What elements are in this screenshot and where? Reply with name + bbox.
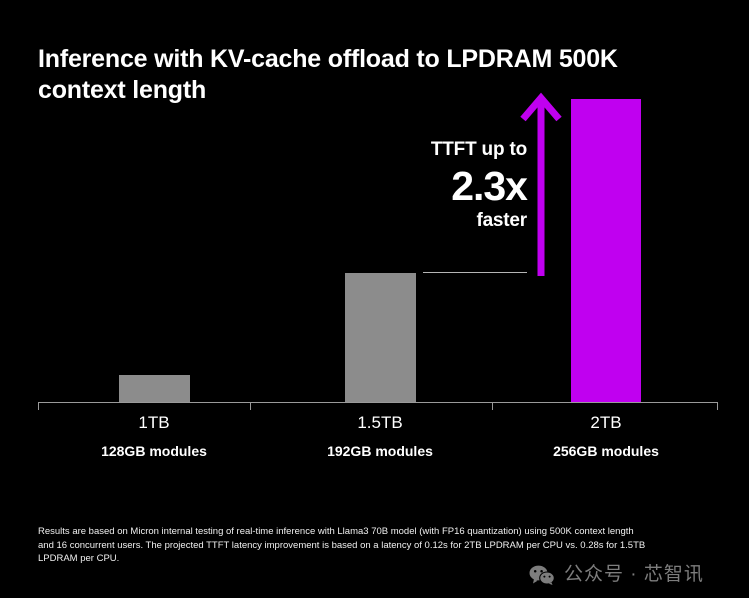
callout-block: TTFT up to 2.3x faster <box>431 138 527 232</box>
bar-2tb <box>571 99 641 402</box>
category-sublabel: 192GB modules <box>260 441 500 461</box>
x-axis-tick <box>717 403 718 410</box>
callout-bottom-label: faster <box>431 210 527 232</box>
callout-value: 2.3x <box>431 163 527 209</box>
wechat-icon <box>529 565 555 585</box>
callout-top-label: TTFT up to <box>431 138 527 161</box>
bar-1-5tb <box>345 273 416 402</box>
x-axis-tick <box>492 403 493 410</box>
category-sublabel: 256GB modules <box>486 441 726 461</box>
category-label: 2TB <box>486 412 726 434</box>
category-sublabel: 128GB modules <box>34 441 274 461</box>
leader-line <box>423 272 527 273</box>
slide-canvas: Inference with KV-cache offload to LPDRA… <box>0 0 749 598</box>
watermark-text: 公众号 · 芯智讯 <box>564 563 704 587</box>
x-axis-category-1-5tb: 1.5TB 192GB modules <box>260 412 500 461</box>
watermark: 公众号 · 芯智讯 <box>529 563 704 587</box>
bar-1tb <box>119 375 190 402</box>
footnote-text: Results are based on Micron internal tes… <box>38 525 650 566</box>
x-axis-line <box>38 402 718 403</box>
category-label: 1TB <box>34 412 274 434</box>
x-axis-category-2tb: 2TB 256GB modules <box>486 412 726 461</box>
x-axis-tick <box>38 403 39 410</box>
category-label: 1.5TB <box>260 412 500 434</box>
x-axis-category-1tb: 1TB 128GB modules <box>34 412 274 461</box>
bar-chart: TTFT up to 2.3x faster 1TB 128GB modules… <box>0 0 749 598</box>
x-axis-tick <box>250 403 251 410</box>
